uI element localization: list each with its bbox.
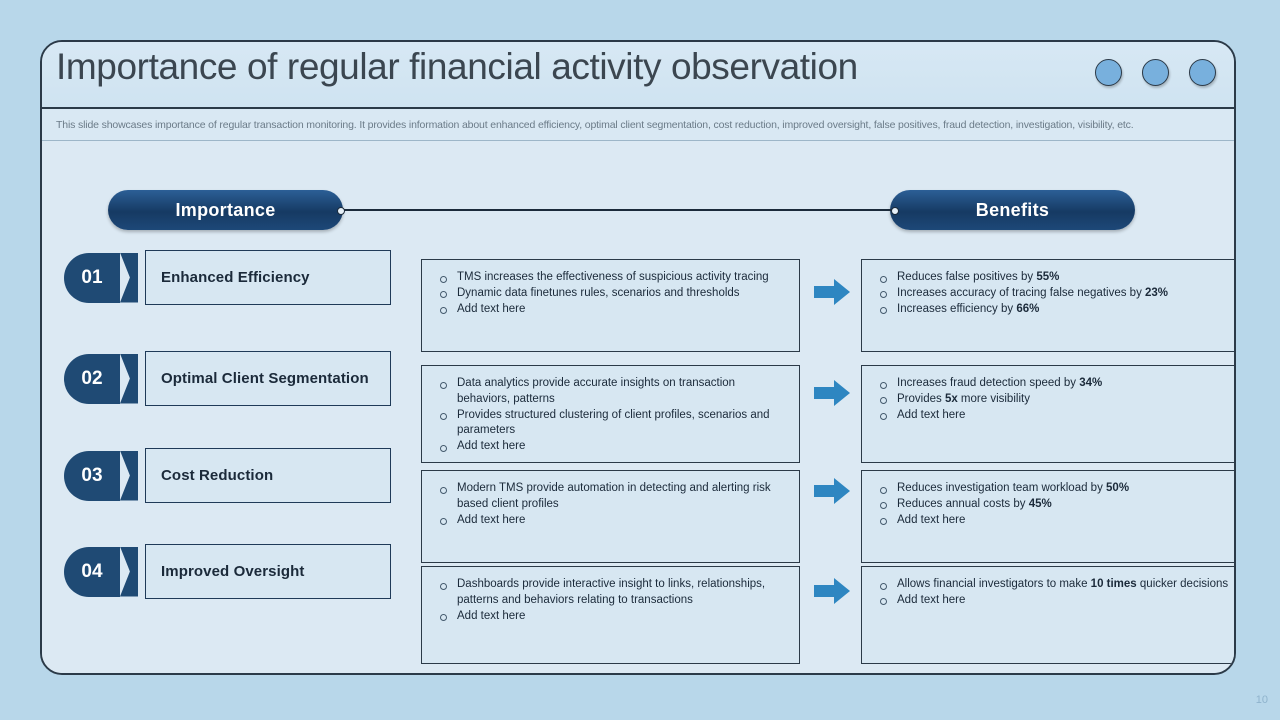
list-item: Data analytics provide accurate insights… — [434, 376, 787, 408]
importance-detail-box-02: Data analytics provide accurate insights… — [421, 365, 800, 463]
list-item: Add text here — [874, 513, 1235, 529]
tms-footnote: *TMS – Transaction Monitoring System — [969, 674, 1160, 675]
row-badge-tail-icon — [120, 354, 138, 404]
importance-bullet-list: Modern TMS provide automation in detecti… — [434, 481, 787, 528]
column-header-importance[interactable]: Importance — [108, 190, 343, 230]
page-number: 10 — [1256, 694, 1268, 706]
importance-bullet-list: Dashboards provide interactive insight t… — [434, 577, 787, 624]
header-dot-group — [1095, 59, 1216, 86]
row-number-badge: 01 — [64, 253, 120, 303]
list-item: Add text here — [874, 593, 1235, 609]
row-number-label: 02 — [81, 368, 102, 390]
list-item: Dashboards provide interactive insight t… — [434, 577, 787, 609]
list-item: Add text here — [434, 609, 787, 625]
right-arrow-icon-02 — [812, 377, 852, 409]
row-badge-tail-icon — [120, 253, 138, 303]
list-item: Increases accuracy of tracing false nega… — [874, 286, 1235, 302]
benefits-detail-box-04: Allows financial investigators to make 1… — [861, 566, 1236, 664]
row-title: Cost Reduction — [145, 448, 391, 503]
tms-footnote-abbr: *TMS — [969, 674, 997, 675]
row-number-label: 03 — [81, 465, 102, 487]
list-item: Add text here — [434, 513, 787, 529]
importance-row-01[interactable]: 01Enhanced Efficiency — [64, 250, 391, 305]
row-number-badge: 02 — [64, 354, 120, 404]
benefits-bullet-list: Allows financial investigators to make 1… — [874, 577, 1235, 609]
list-item: Reduces annual costs by 45% — [874, 497, 1235, 513]
slide-frame: Importance of regular financial activity… — [40, 40, 1236, 675]
pill-connector-line — [340, 209, 896, 211]
header-dot-1-icon — [1095, 59, 1122, 86]
importance-detail-box-04: Dashboards provide interactive insight t… — [421, 566, 800, 664]
benefits-bullet-list: Increases fraud detection speed by 34%Pr… — [874, 376, 1235, 423]
row-badge-tail-icon — [120, 547, 138, 597]
list-item: TMS increases the effectiveness of suspi… — [434, 270, 787, 286]
importance-bullet-list: TMS increases the effectiveness of suspi… — [434, 270, 787, 317]
right-arrow-icon-03 — [812, 475, 852, 507]
slide-header: Importance of regular financial activity… — [42, 42, 1234, 109]
list-item: Provides 5x more visibility — [874, 392, 1235, 408]
row-number-label: 01 — [81, 267, 102, 289]
header-dot-3-icon — [1189, 59, 1216, 86]
row-number-label: 04 — [81, 561, 102, 583]
list-item: Dynamic data finetunes rules, scenarios … — [434, 286, 787, 302]
list-item: Provides structured clustering of client… — [434, 408, 787, 440]
row-number-badge: 03 — [64, 451, 120, 501]
list-item: Reduces investigation team workload by 5… — [874, 481, 1235, 497]
list-item: Add text here — [434, 439, 787, 455]
row-title: Improved Oversight — [145, 544, 391, 599]
benefits-bullet-list: Reduces false positives by 55%Increases … — [874, 270, 1235, 317]
row-title: Optimal Client Segmentation — [145, 351, 391, 406]
list-item: Reduces false positives by 55% — [874, 270, 1235, 286]
importance-detail-box-01: TMS increases the effectiveness of suspi… — [421, 259, 800, 352]
list-item: Modern TMS provide automation in detecti… — [434, 481, 787, 513]
benefits-detail-box-02: Increases fraud detection speed by 34%Pr… — [861, 365, 1236, 463]
slide-subtitle: This slide showcases importance of regul… — [56, 118, 1220, 132]
benefits-bullet-list: Reduces investigation team workload by 5… — [874, 481, 1235, 528]
slide-body: Importance Benefits 01Enhanced Efficienc… — [42, 155, 1234, 673]
list-item: Increases fraud detection speed by 34% — [874, 376, 1235, 392]
list-item: Increases efficiency by 66% — [874, 302, 1235, 318]
benefits-detail-box-03: Reduces investigation team workload by 5… — [861, 470, 1236, 563]
slide-subtitle-band: This slide showcases importance of regul… — [42, 109, 1234, 141]
page-title: Importance of regular financial activity… — [56, 46, 858, 88]
list-item: Add text here — [434, 302, 787, 318]
column-header-benefits[interactable]: Benefits — [890, 190, 1135, 230]
importance-detail-box-03: Modern TMS provide automation in detecti… — [421, 470, 800, 563]
row-badge-tail-icon — [120, 451, 138, 501]
row-number-badge: 04 — [64, 547, 120, 597]
row-title: Enhanced Efficiency — [145, 250, 391, 305]
importance-bullet-list: Data analytics provide accurate insights… — [434, 376, 787, 455]
importance-row-02[interactable]: 02Optimal Client Segmentation — [64, 351, 391, 406]
right-arrow-icon-01 — [812, 276, 852, 308]
header-dot-2-icon — [1142, 59, 1169, 86]
importance-row-04[interactable]: 04Improved Oversight — [64, 544, 391, 599]
list-item: Allows financial investigators to make 1… — [874, 577, 1235, 593]
tms-footnote-text: – Transaction Monitoring System — [997, 674, 1160, 675]
right-arrow-icon-04 — [812, 575, 852, 607]
list-item: Add text here — [874, 408, 1235, 424]
benefits-detail-box-01: Reduces false positives by 55%Increases … — [861, 259, 1236, 352]
importance-row-03[interactable]: 03Cost Reduction — [64, 448, 391, 503]
